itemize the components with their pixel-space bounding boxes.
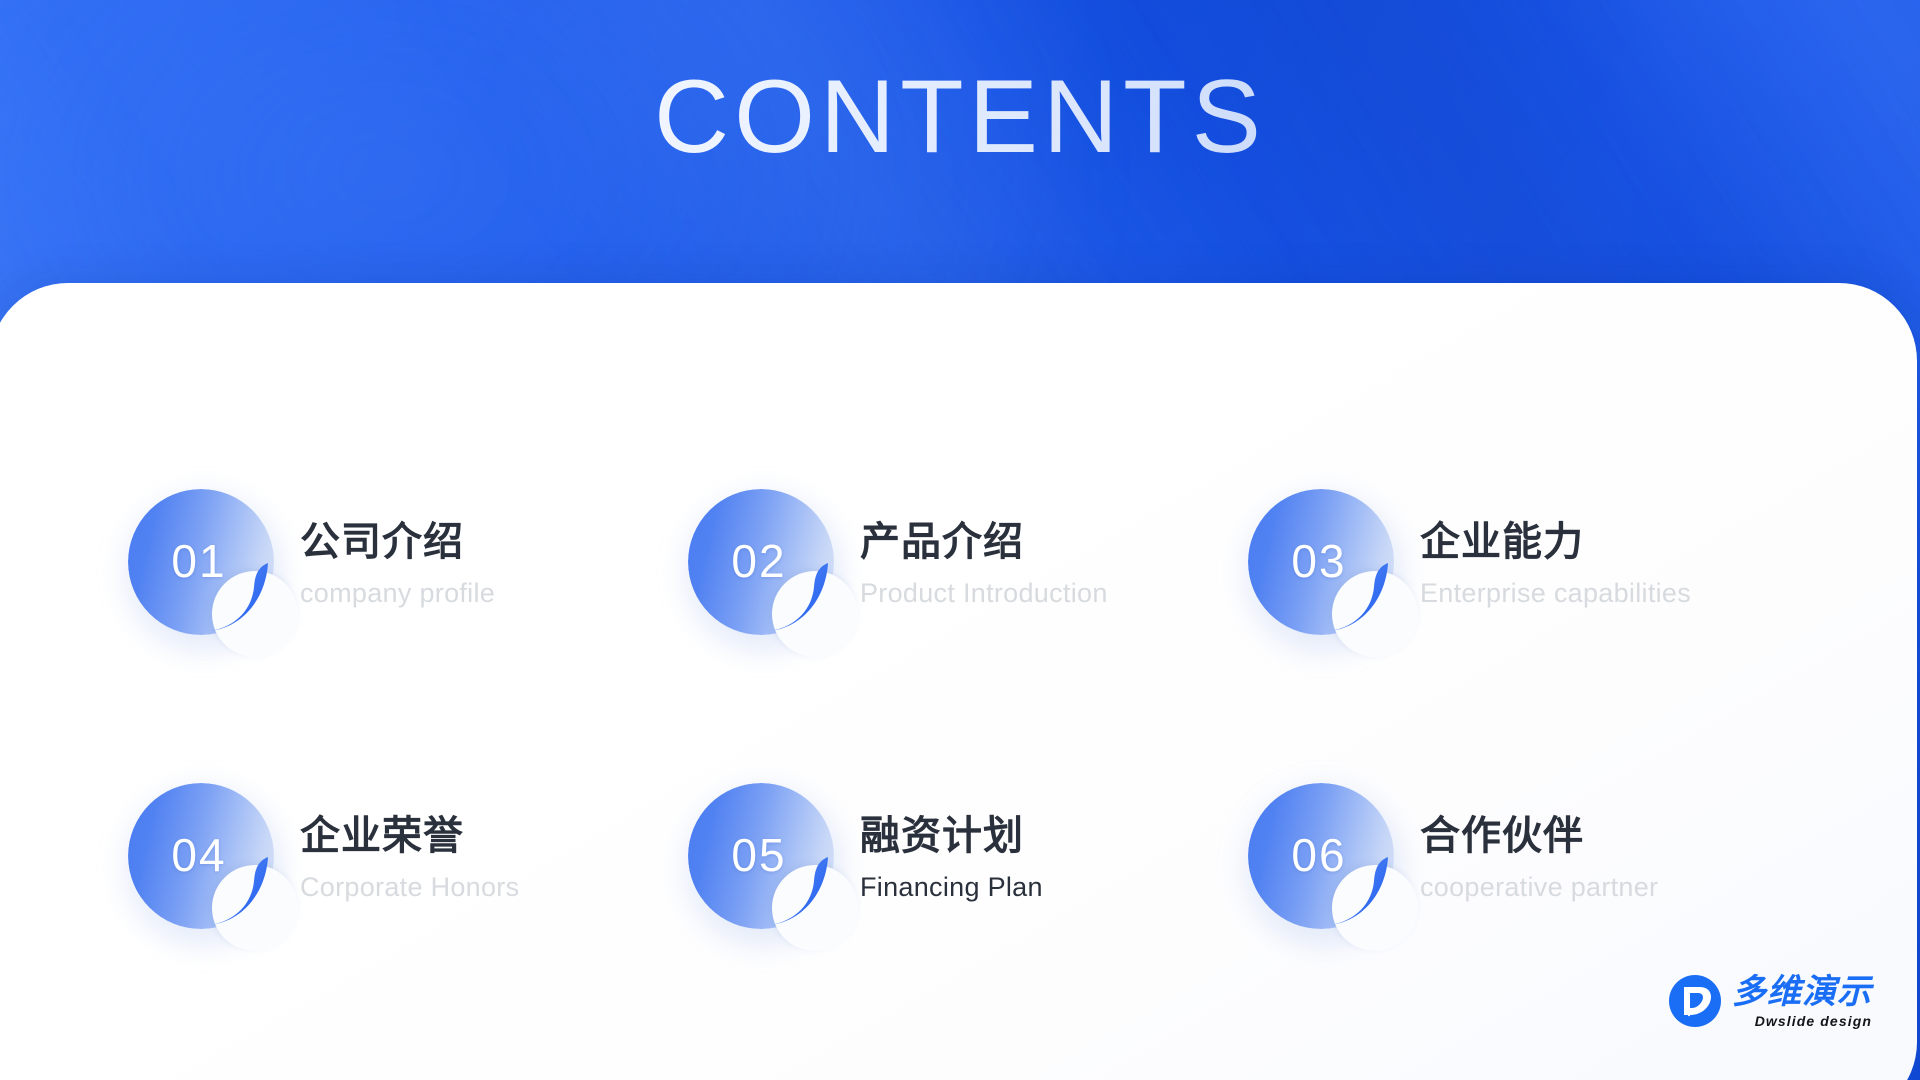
badge-number: 05 (688, 783, 834, 929)
contents-item-04[interactable]: 04 企业荣誉 Corporate Honors (128, 709, 688, 1003)
contents-item-03[interactable]: 03 企业能力 Enterprise capabilities (1248, 415, 1808, 709)
logo-title-en: Dwslide design (1732, 1014, 1872, 1028)
item-labels: 企业荣誉 Corporate Honors (300, 809, 519, 904)
contents-grid: 01 公司介绍 company profile (128, 415, 1808, 1003)
item-title-cn: 公司介绍 (300, 517, 495, 568)
contents-item-01[interactable]: 01 公司介绍 company profile (128, 415, 688, 709)
number-badge: 04 (128, 783, 274, 929)
number-badge: 06 (1248, 783, 1394, 929)
item-title-en: Product Introduction (860, 577, 1108, 609)
item-title-cn: 融资计划 (860, 811, 1043, 862)
item-title-en: company profile (300, 577, 495, 609)
number-badge: 01 (128, 489, 274, 635)
badge-number: 02 (688, 489, 834, 635)
page-title: CONTENTS (0, 58, 1920, 178)
badge-number: 06 (1248, 783, 1394, 929)
logo-text: 多维演示 Dwslide design (1732, 975, 1872, 1028)
item-labels: 公司介绍 company profile (300, 515, 495, 610)
item-title-en: cooperative partner (1420, 871, 1658, 903)
contents-item-06[interactable]: 06 合作伙伴 cooperative partner (1248, 709, 1808, 1003)
item-title-en: Corporate Honors (300, 871, 519, 903)
item-title-cn: 企业能力 (1420, 517, 1691, 568)
item-title-cn: 企业荣誉 (300, 811, 519, 862)
item-title-en: Enterprise capabilities (1420, 577, 1691, 609)
logo-title-cn: 多维演示 (1732, 975, 1872, 1009)
badge-number: 04 (128, 783, 274, 929)
item-title-cn: 产品介绍 (860, 517, 1108, 568)
number-badge: 03 (1248, 489, 1394, 635)
contents-item-05[interactable]: 05 融资计划 Financing Plan (688, 709, 1248, 1003)
item-labels: 融资计划 Financing Plan (860, 809, 1043, 904)
logo-mark-icon (1668, 974, 1722, 1028)
item-title-en: Financing Plan (860, 871, 1043, 903)
brand-logo: 多维演示 Dwslide design (1668, 974, 1872, 1028)
slide-root: CONTENTS 01 (0, 0, 1920, 1080)
badge-number: 01 (128, 489, 274, 635)
badge-number: 03 (1248, 489, 1394, 635)
item-labels: 产品介绍 Product Introduction (860, 515, 1108, 610)
number-badge: 05 (688, 783, 834, 929)
item-labels: 合作伙伴 cooperative partner (1420, 809, 1658, 904)
item-labels: 企业能力 Enterprise capabilities (1420, 515, 1691, 610)
contents-item-02[interactable]: 02 产品介绍 Product Introduction (688, 415, 1248, 709)
item-title-cn: 合作伙伴 (1420, 811, 1658, 862)
number-badge: 02 (688, 489, 834, 635)
